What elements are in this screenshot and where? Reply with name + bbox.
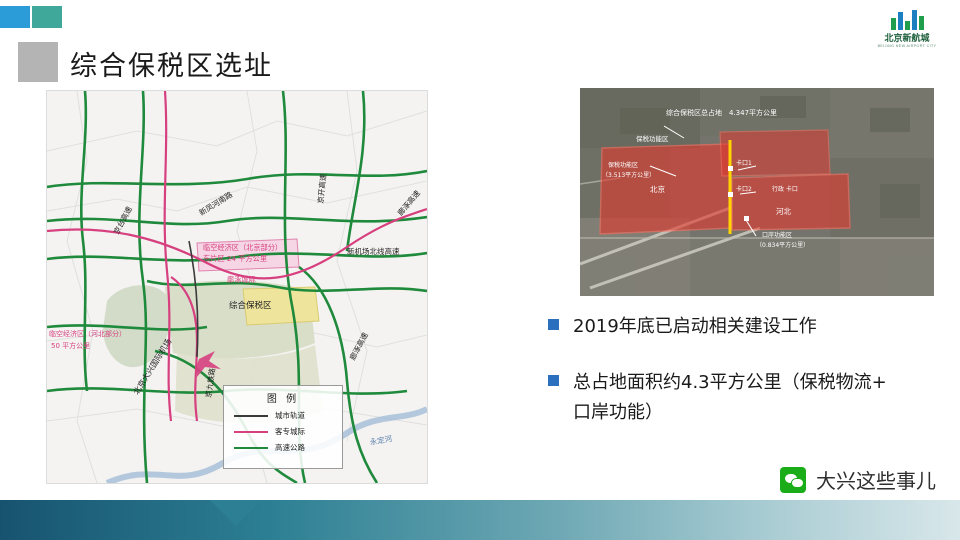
photo-label-checkpoint-2: 卡口2 — [736, 184, 752, 193]
bullet-square-icon — [548, 375, 559, 386]
photo-label-bonded: 保税功能区 — [608, 160, 638, 169]
decor-square-teal — [32, 6, 62, 28]
brand-logo: 北京新航城 BEIJING NEW AIRPORT CITY — [872, 8, 942, 52]
photo-label-beijing: 北京 — [650, 184, 665, 195]
site-selection-map[interactable]: 新机场北线高速 京台高速 新凤河南路 廊涿高速 京开高速 临空经济区（北京部分）… — [46, 90, 428, 484]
map-legend: 图 例 城市轨道 客专城际 高速公路 — [223, 385, 343, 469]
legend-item-expressway: 高速公路 — [234, 442, 342, 453]
bullet-text: 总占地面积约4.3平方公里（保税物流+ — [573, 368, 887, 398]
watermark: 大兴这些事儿 — [780, 465, 936, 494]
top-decoration-bar — [0, 0, 960, 34]
legend-label-expressway: 高速公路 — [275, 442, 305, 453]
photo-label-bonded-area: （3.513平方公里） — [602, 170, 655, 179]
bullet-item: 总占地面积约4.3平方公里（保税物流+ 口岸功能） — [548, 368, 948, 428]
decor-square-blue — [0, 6, 30, 28]
legend-line-metro — [234, 415, 268, 417]
logo-bars-icon — [872, 8, 942, 30]
photo-label-total-area: 综合保税区总占地 4.347平方公里 — [666, 108, 777, 118]
satellite-graphic — [580, 88, 934, 296]
legend-line-intercity — [234, 431, 268, 433]
map-label: 新机场北线高速 — [347, 246, 400, 257]
wechat-icon — [780, 467, 806, 493]
satellite-plan-image[interactable]: 综合保税区总占地 4.347平方公里 保税功能区 保税功能区 （3.513平方公… — [580, 88, 934, 296]
map-label-bonded-zone: 综合保税区 — [229, 299, 272, 311]
legend-item-metro: 城市轨道 — [234, 410, 342, 421]
bullet-list: 2019年底已启动相关建设工作 总占地面积约4.3平方公里（保税物流+ 口岸功能… — [548, 312, 948, 454]
map-label: 廊涿城际 — [227, 275, 256, 285]
photo-label-checkpoint-1: 卡口1 — [736, 158, 752, 167]
bullet-text: 2019年底已启动相关建设工作 — [573, 312, 817, 342]
bullet-item: 2019年底已启动相关建设工作 — [548, 312, 948, 342]
legend-line-expressway — [234, 447, 268, 449]
map-label-zone-pink: 东片区 24 平方公里 — [203, 254, 267, 264]
legend-item-intercity: 客专城际 — [234, 426, 342, 437]
legend-label-intercity: 客专城际 — [275, 426, 305, 437]
title-bullet-square — [18, 42, 58, 82]
bottom-gradient-bar — [0, 500, 960, 540]
map-label-zone-pink: 临空经济区（北京部分） — [203, 243, 282, 253]
logo-subtitle: BEIJING NEW AIRPORT CITY — [872, 44, 942, 48]
photo-label-bonded-head: 保税功能区 — [636, 133, 669, 143]
map-label-zone-hebei: 临空经济区（河北部分） — [49, 329, 126, 339]
bullet-text-line2: 口岸功能） — [573, 398, 887, 428]
legend-label-metro: 城市轨道 — [275, 410, 305, 421]
legend-title: 图 例 — [224, 390, 342, 405]
page-title: 综合保税区选址 — [70, 44, 273, 83]
logo-name: 北京新航城 — [872, 31, 942, 44]
photo-label-port-zone: 口岸功能区 — [762, 230, 792, 239]
photo-label-admin-checkpoint: 行政 卡口 — [772, 184, 798, 193]
bullet-square-icon — [548, 319, 559, 330]
watermark-text: 大兴这些事儿 — [816, 465, 936, 494]
photo-label-hebei: 河北 — [776, 206, 791, 217]
bottom-triangle-decoration — [210, 500, 262, 526]
photo-label-port-zone-area: （0.834平方公里） — [756, 240, 809, 249]
map-label-zone-hebei-area: 50 平方公里 — [51, 341, 90, 351]
